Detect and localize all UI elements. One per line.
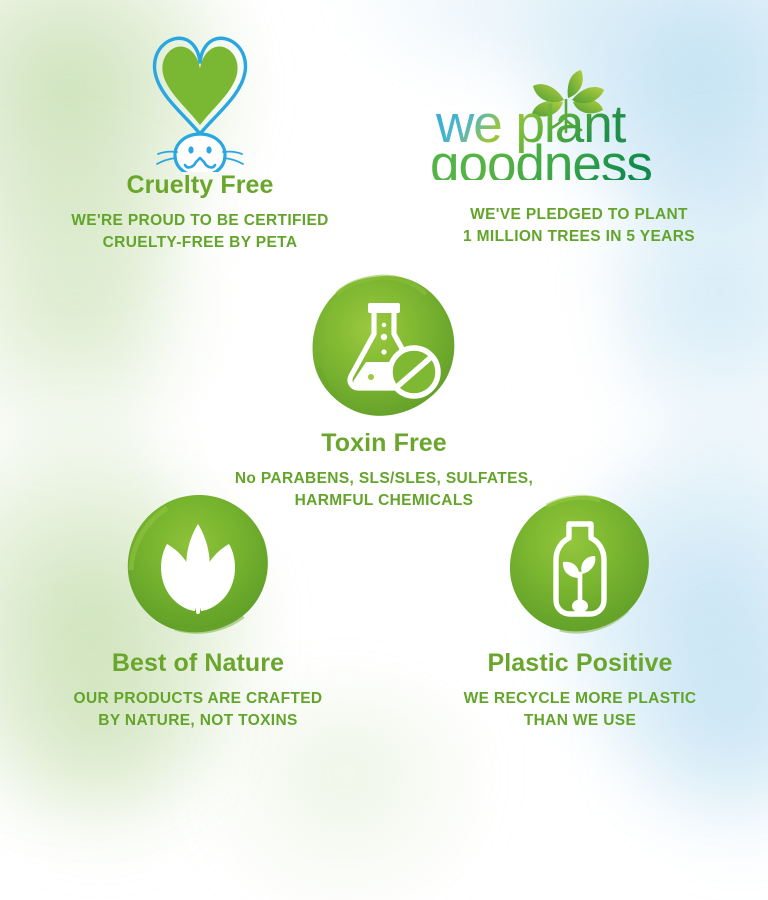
- svg-text:goodness: goodness: [430, 135, 652, 180]
- leaves-icon: [123, 492, 273, 642]
- desc-line: 1 MILLION TREES IN 5 YEARS: [390, 226, 768, 248]
- badge-description: OUR PRODUCTS ARE CRAFTED BY NATURE, NOT …: [8, 688, 388, 732]
- desc-line: No PARABENS, SLS/SLES, SULFATES,: [194, 468, 574, 490]
- badge-title: Plastic Positive: [392, 650, 768, 678]
- we-plant-goodness-logo: we plant goodness: [390, 70, 768, 180]
- desc-line: THAN WE USE: [392, 710, 768, 732]
- badge-we-plant-goodness: we plant goodness WE'VE PLEDGED TO PLANT…: [390, 70, 768, 248]
- badge-plastic-positive: Plastic Positive WE RECYCLE MORE PLASTIC…: [392, 492, 768, 732]
- badge-title: Cruelty Free: [10, 172, 390, 200]
- bottle-sprout-icon: [505, 492, 655, 642]
- badge-description: WE'RE PROUD TO BE CERTIFIED CRUELTY-FREE…: [10, 210, 390, 254]
- desc-line: WE'VE PLEDGED TO PLANT: [390, 204, 768, 226]
- flask-no-entry-icon: [309, 272, 459, 422]
- badge-toxin-free: Toxin Free No PARABENS, SLS/SLES, SULFAT…: [194, 272, 574, 512]
- desc-line: CRUELTY-FREE BY PETA: [10, 232, 390, 254]
- bunny-heart-icon: [10, 22, 390, 172]
- badge-title: Toxin Free: [194, 430, 574, 458]
- badge-title: Best of Nature: [8, 650, 388, 678]
- badge-cruelty-free: Cruelty Free WE'RE PROUD TO BE CERTIFIED…: [10, 22, 390, 254]
- badge-description: WE'VE PLEDGED TO PLANT 1 MILLION TREES I…: [390, 204, 768, 248]
- desc-line: BY NATURE, NOT TOXINS: [8, 710, 388, 732]
- badge-description: WE RECYCLE MORE PLASTIC THAN WE USE: [392, 688, 768, 732]
- badge-best-of-nature: Best of Nature OUR PRODUCTS ARE CRAFTED …: [8, 492, 388, 732]
- desc-line: OUR PRODUCTS ARE CRAFTED: [8, 688, 388, 710]
- desc-line: WE RECYCLE MORE PLASTIC: [392, 688, 768, 710]
- desc-line: WE'RE PROUD TO BE CERTIFIED: [10, 210, 390, 232]
